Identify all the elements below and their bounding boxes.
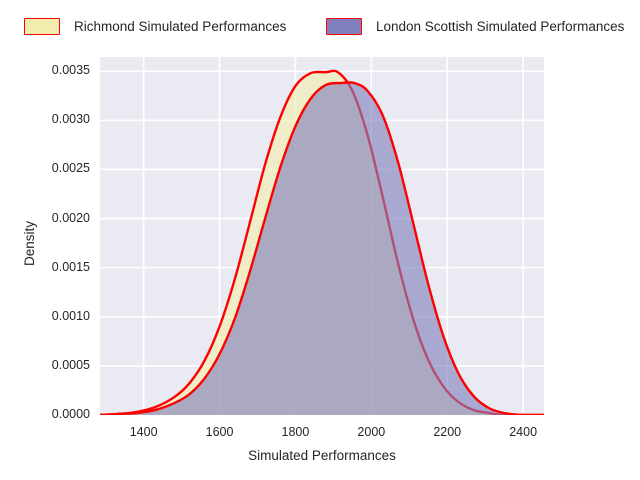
y-axis-title: Density [22, 221, 37, 266]
density-plot-figure: Richmond Simulated Performances London S… [0, 0, 640, 480]
x-axis-tick-label: 1800 [265, 425, 325, 439]
y-axis-tick-label: 0.0000 [28, 407, 90, 421]
x-axis-tick-label: 2000 [341, 425, 401, 439]
y-axis-tick-label: 0.0015 [28, 260, 90, 274]
y-axis-tick-label: 0.0030 [28, 112, 90, 126]
y-axis-tick-label: 0.0025 [28, 161, 90, 175]
x-axis-tick-label: 1400 [114, 425, 174, 439]
plot-canvas [0, 0, 640, 480]
y-axis-tick-label: 0.0035 [28, 63, 90, 77]
x-axis-title: Simulated Performances [232, 448, 412, 463]
y-axis-tick-label: 0.0005 [28, 358, 90, 372]
x-axis-tick-label: 2200 [417, 425, 477, 439]
y-axis-tick-label: 0.0010 [28, 309, 90, 323]
y-axis-tick-label: 0.0020 [28, 211, 90, 225]
x-axis-tick-label: 2400 [493, 425, 553, 439]
x-axis-tick-label: 1600 [190, 425, 250, 439]
